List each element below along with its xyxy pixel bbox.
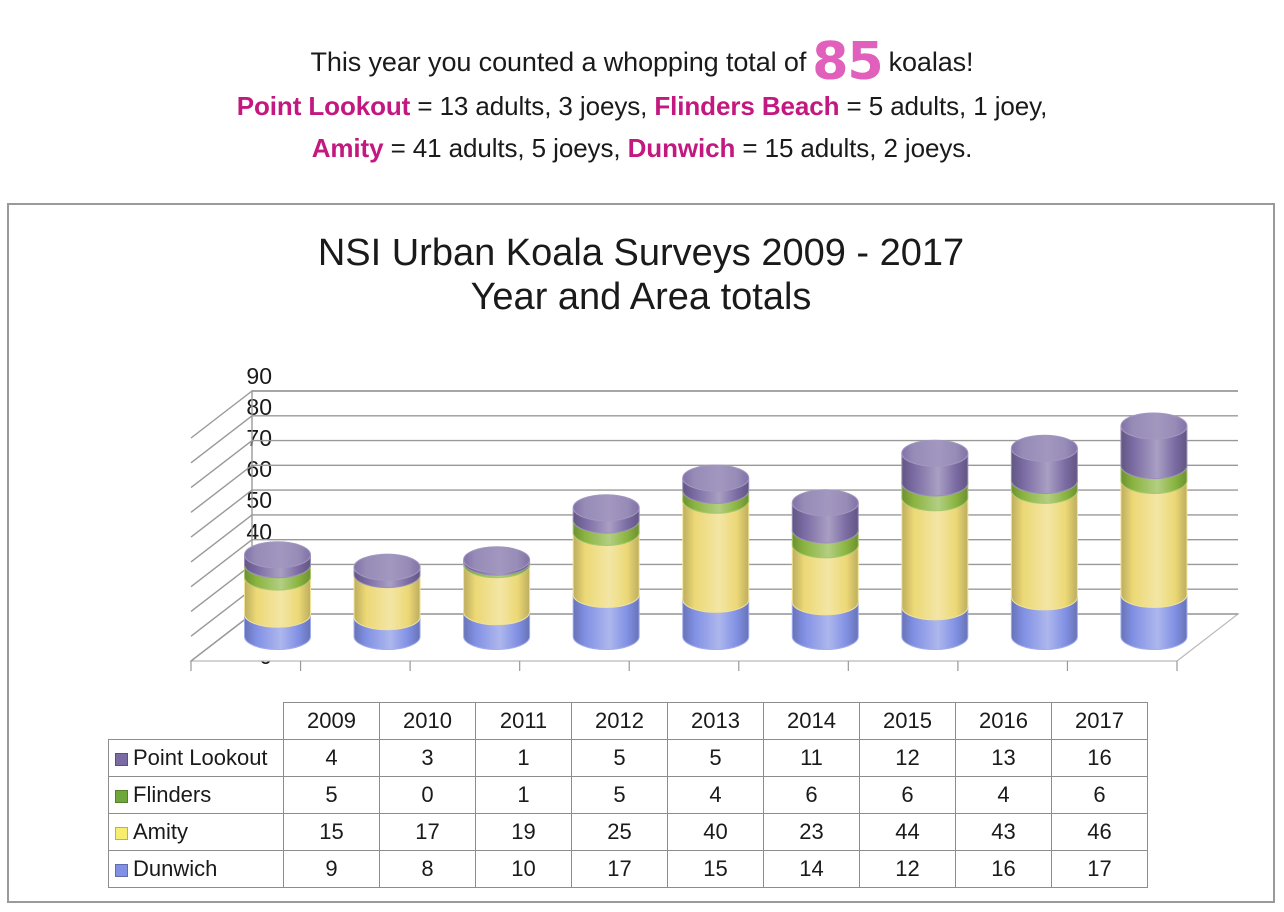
table-row-label-point-lookout: Point Lookout xyxy=(109,740,284,777)
table-col-header-2016: 2016 xyxy=(956,703,1052,740)
bar-2011[interactable] xyxy=(464,547,530,650)
table-cell: 5 xyxy=(284,777,380,814)
bar-2015[interactable] xyxy=(902,440,968,649)
segment-cap-point-lookout-2017 xyxy=(1121,413,1187,439)
chart-title-line2: Year and Area totals xyxy=(9,275,1273,319)
table-cell: 0 xyxy=(380,777,476,814)
table-cell: 6 xyxy=(1052,777,1148,814)
table-row: Flinders501546646 xyxy=(109,777,1148,814)
chart-frame: NSI Urban Koala Surveys 2009 - 2017 Year… xyxy=(7,203,1275,903)
table-cell: 3 xyxy=(380,740,476,777)
table-row: Point Lookout4315511121316 xyxy=(109,740,1148,777)
header-breakdown-line-2: Amity = 41 adults, 5 joeys, Dunwich = 15… xyxy=(0,135,1284,161)
segment-cap-point-lookout-2009 xyxy=(244,542,310,568)
table-row-label-amity: Amity xyxy=(109,814,284,851)
legend-swatch-icon xyxy=(115,864,128,877)
table-cell: 17 xyxy=(380,814,476,851)
table-cell: 1 xyxy=(476,740,572,777)
summary-header: This year you counted a whopping total o… xyxy=(0,0,1284,186)
segment-cap-point-lookout-2010 xyxy=(354,554,420,580)
legend-swatch-icon xyxy=(115,753,128,766)
table-cell: 4 xyxy=(284,740,380,777)
breakdown2-seg-3: = 15 adults, 2 joeys. xyxy=(735,133,972,163)
table-header-row: 200920102011201220132014201520162017 xyxy=(109,703,1148,740)
table-row: Dunwich9810171514121617 xyxy=(109,851,1148,888)
table-cell: 46 xyxy=(1052,814,1148,851)
segment-cap-point-lookout-2014 xyxy=(792,490,858,516)
table-row-label-flinders: Flinders xyxy=(109,777,284,814)
bar-2010[interactable] xyxy=(354,554,420,649)
segment-amity-2016[interactable] xyxy=(1011,490,1077,610)
table-cell: 11 xyxy=(764,740,860,777)
table-cell: 6 xyxy=(764,777,860,814)
legend-label: Dunwich xyxy=(133,856,217,881)
table-cell: 5 xyxy=(572,740,668,777)
table-cell: 17 xyxy=(1052,851,1148,888)
table-cell: 17 xyxy=(572,851,668,888)
koala-total-count: 85 xyxy=(806,36,888,88)
segment-cap-point-lookout-2012 xyxy=(573,495,639,521)
bar-2013[interactable] xyxy=(683,465,749,650)
table-cell: 43 xyxy=(956,814,1052,851)
table-col-header-2010: 2010 xyxy=(380,703,476,740)
breakdown1-seg-0: Point Lookout xyxy=(237,91,410,121)
legend-swatch-icon xyxy=(115,827,128,840)
table-cell: 16 xyxy=(956,851,1052,888)
table-cell: 15 xyxy=(284,814,380,851)
table-cell: 5 xyxy=(668,740,764,777)
plot-area xyxy=(9,365,1273,705)
bar-2014[interactable] xyxy=(792,490,858,650)
header-total-suffix: koalas! xyxy=(889,49,974,76)
table-cell: 13 xyxy=(956,740,1052,777)
bar-2012[interactable] xyxy=(573,495,639,650)
header-breakdown-line-1: Point Lookout = 13 adults, 3 joeys, Flin… xyxy=(0,93,1284,119)
segment-cap-point-lookout-2016 xyxy=(1011,435,1077,461)
segment-amity-2017[interactable] xyxy=(1121,480,1187,607)
legend-label: Amity xyxy=(133,819,188,844)
table-row: Amity151719254023444346 xyxy=(109,814,1148,851)
table-cell: 10 xyxy=(476,851,572,888)
table-cell: 14 xyxy=(764,851,860,888)
table-cell: 16 xyxy=(1052,740,1148,777)
breakdown2-seg-1: = 41 adults, 5 joeys, xyxy=(383,133,627,163)
segment-cap-point-lookout-2015 xyxy=(902,440,968,466)
table-cell: 25 xyxy=(572,814,668,851)
table-cell: 12 xyxy=(860,740,956,777)
table-col-header-2009: 2009 xyxy=(284,703,380,740)
breakdown1-seg-1: = 13 adults, 3 joeys, xyxy=(410,91,654,121)
table-cell: 23 xyxy=(764,814,860,851)
table-cell: 44 xyxy=(860,814,956,851)
table-col-header-2012: 2012 xyxy=(572,703,668,740)
header-total-line: This year you counted a whopping total o… xyxy=(0,36,1284,88)
table-cell: 5 xyxy=(572,777,668,814)
chart-title: NSI Urban Koala Surveys 2009 - 2017 Year… xyxy=(9,231,1273,319)
bar-2017[interactable] xyxy=(1121,413,1187,650)
table-cell: 12 xyxy=(860,851,956,888)
bar-2016[interactable] xyxy=(1011,435,1077,649)
table-cell: 4 xyxy=(956,777,1052,814)
breakdown1-seg-3: = 5 adults, 1 joey, xyxy=(839,91,1047,121)
segment-cap-point-lookout-2013 xyxy=(683,465,749,491)
table-cell: 4 xyxy=(668,777,764,814)
table-corner-cell xyxy=(109,703,284,740)
table-cell: 40 xyxy=(668,814,764,851)
breakdown2-seg-0: Amity xyxy=(312,133,384,163)
table-col-header-2013: 2013 xyxy=(668,703,764,740)
segment-cap-point-lookout-2011 xyxy=(464,547,530,573)
header-total-prefix: This year you counted a whopping total o… xyxy=(311,49,807,76)
bar-2009[interactable] xyxy=(244,542,310,650)
breakdown1-seg-2: Flinders Beach xyxy=(654,91,839,121)
table-cell: 1 xyxy=(476,777,572,814)
table-cell: 8 xyxy=(380,851,476,888)
chart-title-line1: NSI Urban Koala Surveys 2009 - 2017 xyxy=(318,232,964,274)
segment-amity-2013[interactable] xyxy=(683,500,749,612)
legend-swatch-icon xyxy=(115,790,128,803)
table-col-header-2014: 2014 xyxy=(764,703,860,740)
table-cell: 15 xyxy=(668,851,764,888)
bars-group xyxy=(244,413,1186,650)
table-col-header-2015: 2015 xyxy=(860,703,956,740)
breakdown2-seg-2: Dunwich xyxy=(628,133,736,163)
legend-label: Point Lookout xyxy=(133,745,268,770)
table-cell: 19 xyxy=(476,814,572,851)
table-col-header-2011: 2011 xyxy=(476,703,572,740)
table-cell: 6 xyxy=(860,777,956,814)
data-table: 200920102011201220132014201520162017Poin… xyxy=(108,702,1148,888)
table-cell: 9 xyxy=(284,851,380,888)
table-row-label-dunwich: Dunwich xyxy=(109,851,284,888)
table-col-header-2017: 2017 xyxy=(1052,703,1148,740)
segment-amity-2015[interactable] xyxy=(902,498,968,620)
legend-label: Flinders xyxy=(133,782,211,807)
plot-svg xyxy=(9,365,1273,705)
